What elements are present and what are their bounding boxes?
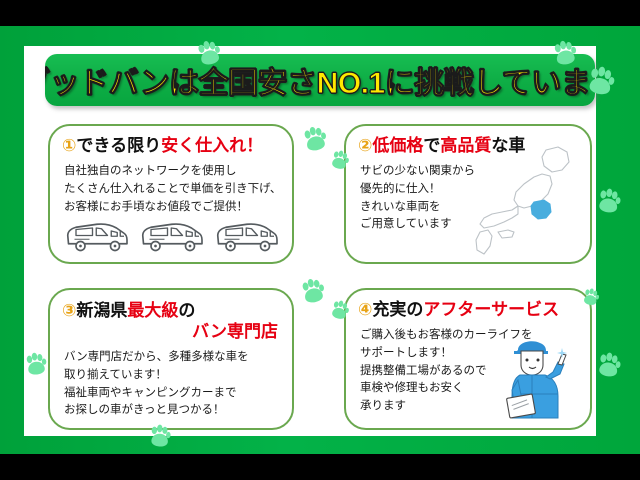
feature-1-heading: ①できる限り安く仕入れ！ xyxy=(62,136,286,156)
mechanic-staff-icon xyxy=(498,334,572,422)
feature-1-heading-part-1: できる限り xyxy=(76,136,161,155)
feature-3-body: バン専門店だから、多種多様な車を 取り揃えています！ 福祉車両やキャンピングカー… xyxy=(64,348,249,419)
feature-3-heading: ③新潟県最大級の バン専門店 xyxy=(62,300,286,343)
feature-3-heading-part-2: 最大級 xyxy=(127,301,178,320)
feature-1-heading-part-2: 安く仕入れ！ xyxy=(161,136,263,155)
feature-box-3: ③新潟県最大級の バン専門店 バン専門店だから、多種多様な車を 取り揃えています… xyxy=(48,288,294,430)
van-icon xyxy=(139,220,205,254)
feature-3-heading-line2: バン専門店 xyxy=(62,321,286,342)
feature-3-heading-part-3: の xyxy=(178,301,195,320)
feature-box-4: ④充実のアフターサービス ご購入後もお客様のカーライフを サポートします！ 提携… xyxy=(344,288,592,430)
feature-2-number: ② xyxy=(358,136,372,155)
japan-map-icon xyxy=(472,144,584,262)
feature-1-number: ① xyxy=(62,136,76,155)
feature-3-number: ③ xyxy=(62,301,76,320)
feature-box-2: ②低価格で高品質な車 サビの少ない関東から 優先的に仕入！ きれいな車両を ご用… xyxy=(344,124,592,264)
kanto-region-highlight xyxy=(531,200,551,219)
feature-4-number: ④ xyxy=(358,300,372,319)
feature-box-1: ①できる限り安く仕入れ！ 自社独自のネットワークを使用し たくさん仕入れることで… xyxy=(48,124,294,264)
feature-3-heading-part-1: 新潟県 xyxy=(76,301,127,320)
van-illustration-row xyxy=(64,220,280,254)
feature-2-heading-part-2: で xyxy=(423,136,440,155)
title-banner: グッドバンは全国安さNO.1に挑戦しています xyxy=(45,54,595,106)
feature-2-body: サビの少ない関東から 優先的に仕入！ きれいな車両を ご用意しています xyxy=(360,162,475,233)
advertisement-canvas: グッドバンは全国安さNO.1に挑戦しています ①できる限り安く仕入れ！ 自社独自… xyxy=(0,0,640,480)
feature-1-body: 自社独自のネットワークを使用し たくさん仕入れることで単価を引き下げ、 お客様に… xyxy=(64,162,281,215)
feature-4-heading-part-1: 充実の xyxy=(372,300,423,319)
feature-4-heading: ④充実のアフターサービス xyxy=(358,300,584,320)
van-icon xyxy=(64,220,130,254)
feature-4-heading-part-2: アフターサービス xyxy=(423,300,559,319)
page-title: グッドバンは全国安さNO.1に挑戦しています xyxy=(45,58,595,102)
van-icon xyxy=(214,220,280,254)
feature-2-heading-part-1: 低価格 xyxy=(372,136,423,155)
